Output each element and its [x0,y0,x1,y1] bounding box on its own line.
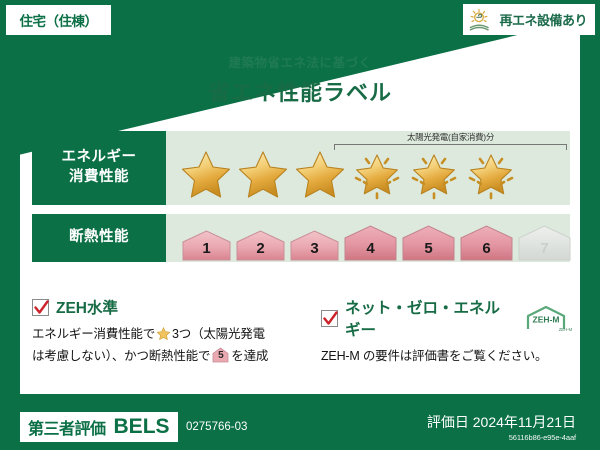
zeh-section: ZEH水準 エネルギー消費性能で3つ（太陽光発電 は考慮しない）、かつ断熱性能で… [32,296,570,367]
inline-badge-value: 5 [212,348,229,364]
sparkle-marks-icon [349,146,405,202]
net-zero-energy-title: ネット・ゼロ・エネルギー [345,296,513,340]
insulation-level-item: 2 [234,229,287,261]
insulation-level-value: 6 [458,240,515,257]
zeh-desc-part2: は考慮しない）、かつ断熱性能で [32,349,210,363]
insulation-label: 断熱性能 [69,228,129,248]
insulation-level-item: 1 [180,229,233,261]
third-party-label: 第三者評価 [28,415,106,439]
bels-footer: 第三者評価 BELS [20,412,178,442]
insulation-level-value: 5 [400,240,457,257]
insulation-level-scale: 1 2 3 [180,224,573,261]
inline-insulation-badge: 5 [212,347,229,363]
zeh-standard-header: ZEH水準 [32,296,301,318]
renewable-equipment-badge: 再エネ設備あり [463,4,595,35]
label-title: 建築物省エネ法に基づく 省エネ性能ラベル [0,52,600,107]
insulation-level-item: 3 [288,229,341,261]
net-zero-energy-header: ネット・ゼロ・エネルギー ZEH-M ZEH-M [321,296,570,340]
bels-number-wrap: 0275766-03 [186,417,247,435]
zeh-desc-star-count: 3つ（太陽光発電 [172,327,265,341]
insulation-level-value: 2 [234,240,287,257]
sparkle-marks-icon [406,146,462,202]
evaluation-date: 評価日 2024年11月21日 [427,412,576,432]
svg-text:ZEH-M: ZEH-M [533,315,560,325]
inline-star-icon [156,330,171,344]
check-icon [323,311,338,327]
energy-performance-label: 住宅（住棟） 再エネ設備あり 建築 [0,0,600,450]
insulation-level-value: 7 [516,240,573,257]
net-zero-energy-checkbox[interactable] [321,310,338,327]
zeh-desc-part3: を達成 [231,349,268,363]
sparkle-marks-icon [463,146,519,202]
energy-performance-label-cell: エネルギー 消費性能 [32,131,166,205]
insulation-performance-value-cell: 1 2 3 [166,214,570,262]
insulation-level-item: 5 [400,224,457,261]
rating-rows: エネルギー 消費性能 太陽光発電(自家消費)分 [32,131,570,271]
energy-label-line1: エネルギー [62,148,137,168]
zeh-desc-part1: エネルギー消費性能で [32,327,155,341]
zeh-standard-block: ZEH水準 エネルギー消費性能で3つ（太陽光発電 は考慮しない）、かつ断熱性能で… [32,296,301,367]
insulation-performance-label-cell: 断熱性能 [32,214,166,262]
zeh-m-logo: ZEH-M ZEH-M [524,305,570,331]
energy-performance-value-cell: 太陽光発電(自家消費)分 [166,131,570,205]
insulation-performance-row: 断熱性能 [32,214,570,262]
zeh-standard-title: ZEH水準 [56,296,118,318]
evaluation-date-value: 2024年11月21日 [473,414,576,430]
insulation-level-value: 1 [180,240,233,257]
solar-bracket-label: 太陽光発電(自家消費)分 [334,133,567,142]
zeh-standard-checkbox[interactable] [32,299,49,316]
zeh-m-logo-subtext: ZEH-M [559,327,572,332]
evaluation-date-block: 評価日 2024年11月21日 56116b86-e95e-4aaf [427,412,576,442]
insulation-level-value: 4 [342,240,399,257]
insulation-level-item-inactive: 7 [516,224,573,261]
star-filled [292,146,348,202]
renewable-badge-label: 再エネ設備あり [499,10,587,29]
title-main: 省エネ性能ラベル [0,75,600,107]
star-rating [178,146,519,202]
evaluation-date-label: 評価日 [427,414,469,430]
star-filled [235,146,291,202]
title-subtitle: 建築物省エネ法に基づく [0,52,600,71]
insulation-level-item: 6 [458,224,515,261]
energy-performance-row: エネルギー 消費性能 太陽光発電(自家消費)分 [32,131,570,205]
sun-solar-icon [468,8,494,32]
zeh-standard-description: エネルギー消費性能で3つ（太陽光発電 は考慮しない）、かつ断熱性能で5を達成 [32,325,301,367]
check-icon [34,300,49,316]
category-badge: 住宅（住棟） [6,5,111,35]
energy-label-line2: 消費性能 [69,168,129,188]
insulation-level-item: 4 [342,224,399,261]
net-zero-energy-block: ネット・ゼロ・エネルギー ZEH-M ZEH-M ZEH-M の要件は評価書をご… [301,296,570,367]
label-hash: 56116b86-e95e-4aaf [427,433,576,442]
net-zero-energy-description: ZEH-M の要件は評価書をご覧ください。 [321,347,570,366]
star-filled-solar [463,146,519,202]
insulation-level-value: 3 [288,240,341,257]
category-badge-label: 住宅（住棟） [20,10,98,30]
star-filled-solar [406,146,462,202]
star-filled-solar [349,146,405,202]
bels-number: 0275766-03 [186,421,247,433]
bels-logo-text: BELS [114,415,170,439]
star-filled [178,146,234,202]
